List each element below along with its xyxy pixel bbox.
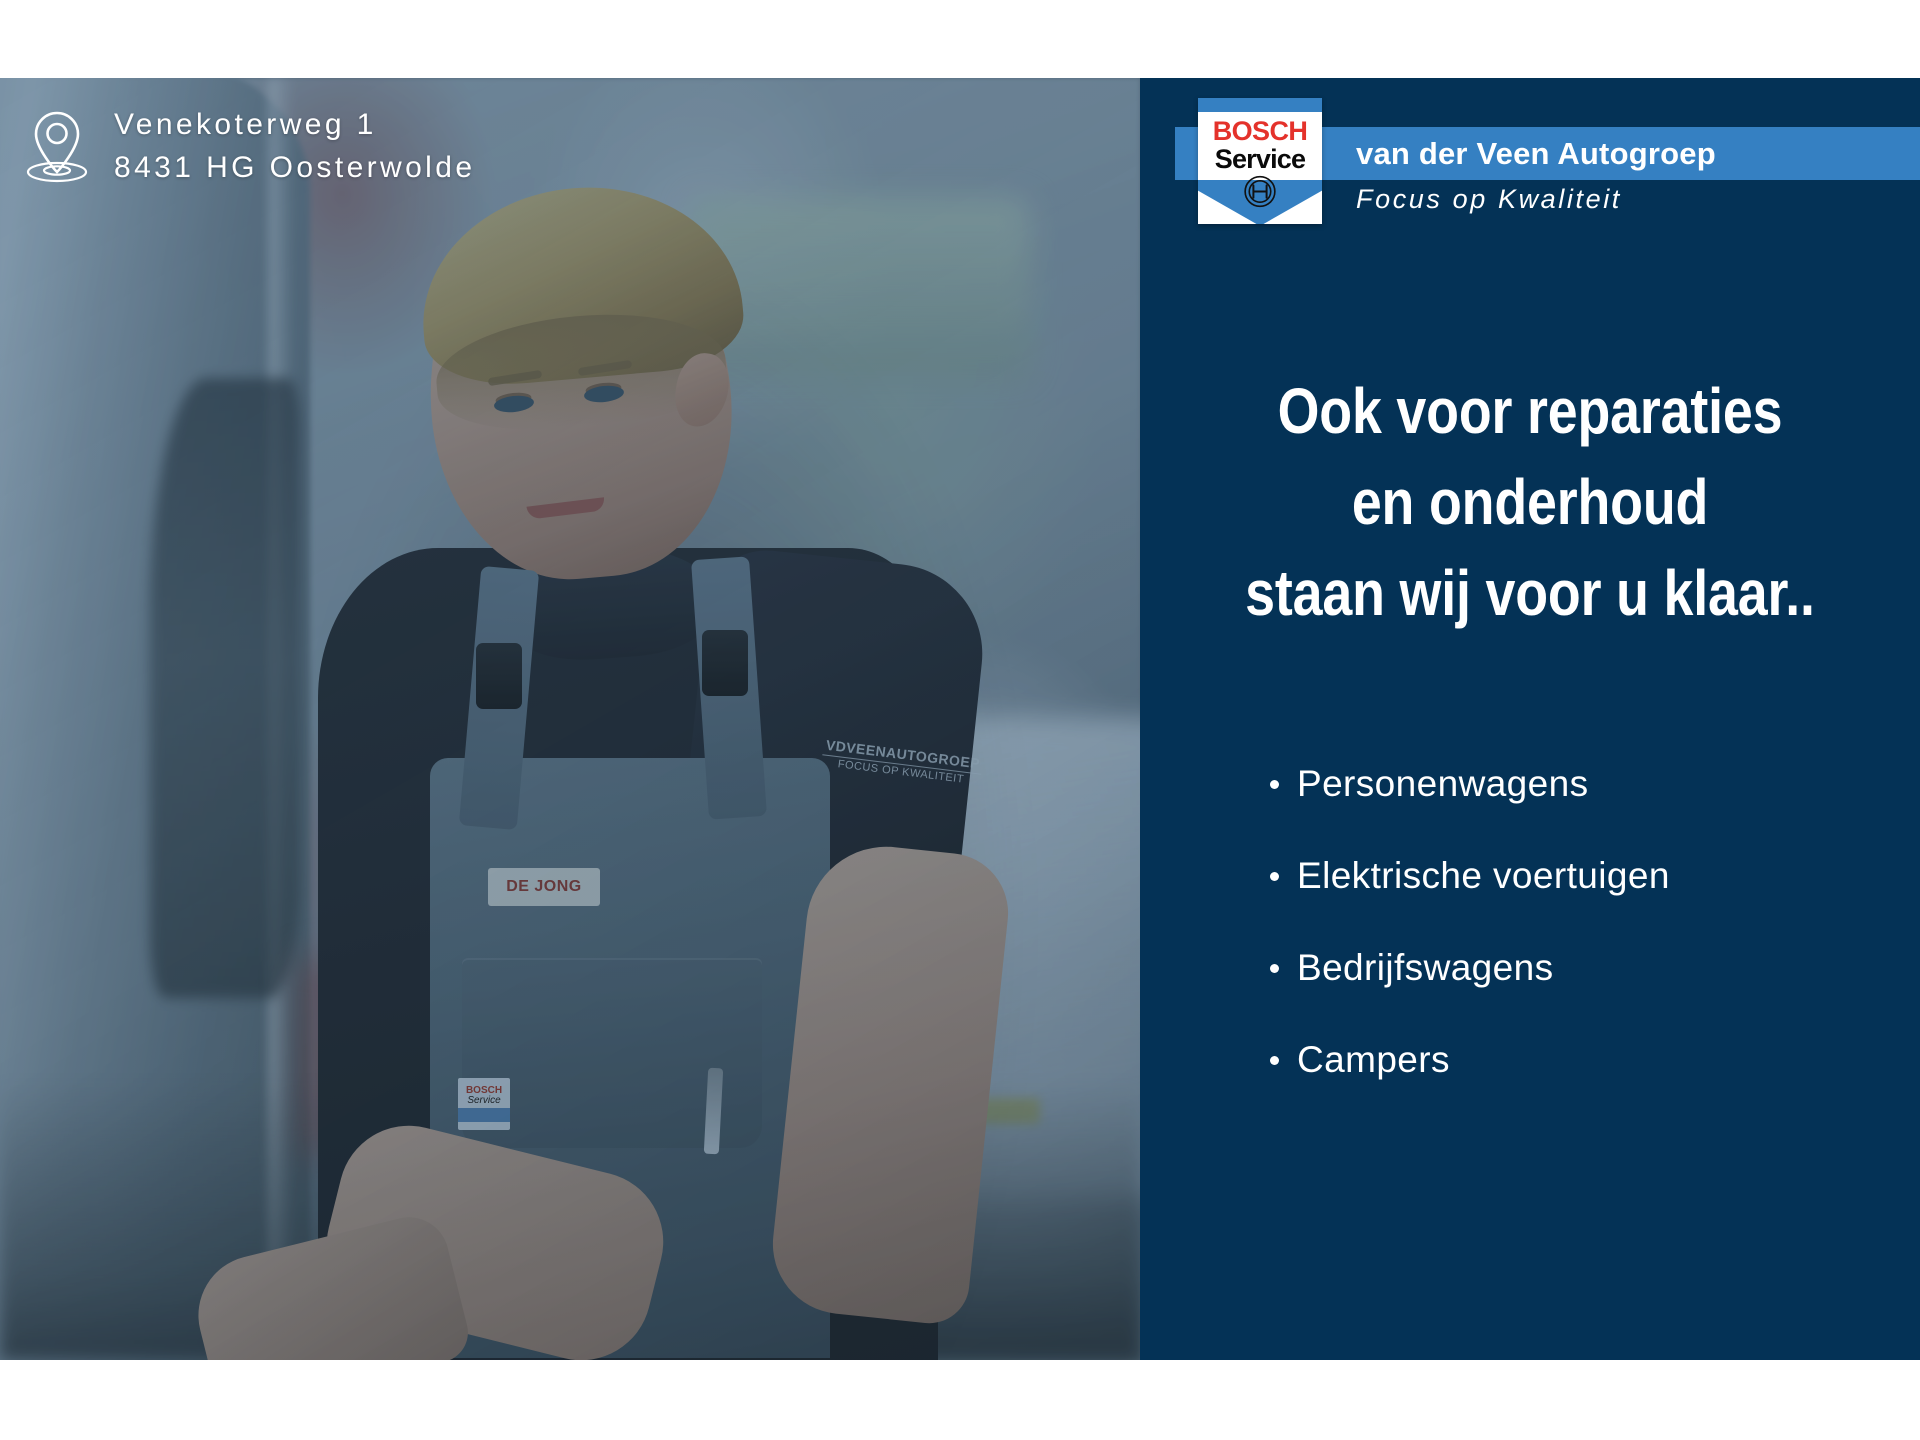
- advertisement-artwork: DE JONG BOSCH Service VDVEENAUTOGROEP FO…: [0, 78, 1920, 1360]
- headline-line-1: Ook voor reparaties: [1202, 366, 1857, 457]
- list-item: Bedrijfswagens: [1270, 922, 1670, 1014]
- address-text: Venekoterweg 1 8431 HG Oosterwolde: [114, 104, 475, 189]
- bosch-wordmark: BOSCH: [1198, 118, 1322, 145]
- headline-line-2: en onderhoud: [1202, 457, 1857, 548]
- list-item: Elektrische voertuigen: [1270, 830, 1670, 922]
- service-wordmark: Service: [1198, 146, 1322, 173]
- photo-haze-overlay: [0, 78, 1140, 1360]
- headline-line-3: staan wij voor u klaar..: [1202, 548, 1857, 639]
- advertisement-canvas: DE JONG BOSCH Service VDVEENAUTOGROEP FO…: [0, 0, 1920, 1440]
- list-item: Campers: [1270, 1014, 1670, 1106]
- bosch-service-logo: BOSCH Service: [1198, 98, 1322, 224]
- service-label: Campers: [1297, 1039, 1450, 1081]
- service-label: Bedrijfswagens: [1297, 947, 1554, 989]
- info-panel: BOSCH Service van der Veen Autogroep Foc…: [1140, 78, 1920, 1360]
- service-label: Personenwagens: [1297, 763, 1589, 805]
- bullet-dot-icon: [1270, 1056, 1279, 1065]
- bullet-dot-icon: [1270, 872, 1279, 881]
- bullet-dot-icon: [1270, 780, 1279, 789]
- address-line-2: 8431 HG Oosterwolde: [114, 147, 475, 190]
- headline: Ook voor reparaties en onderhoud staan w…: [1202, 366, 1857, 639]
- company-name: van der Veen Autogroep: [1356, 127, 1716, 180]
- bosch-armature-icon: [1244, 175, 1277, 208]
- company-tagline: Focus op Kwaliteit: [1356, 184, 1622, 215]
- location-pin-icon: [26, 110, 88, 184]
- shield-top-bar: [1198, 98, 1322, 112]
- list-item: Personenwagens: [1270, 738, 1670, 830]
- bullet-dot-icon: [1270, 964, 1279, 973]
- address-overlay: Venekoterweg 1 8431 HG Oosterwolde: [26, 104, 475, 189]
- service-label: Elektrische voertuigen: [1297, 855, 1670, 897]
- address-line-1: Venekoterweg 1: [114, 104, 475, 147]
- services-list: Personenwagens Elektrische voertuigen Be…: [1270, 738, 1670, 1106]
- mechanic-photo: DE JONG BOSCH Service VDVEENAUTOGROEP FO…: [0, 78, 1140, 1360]
